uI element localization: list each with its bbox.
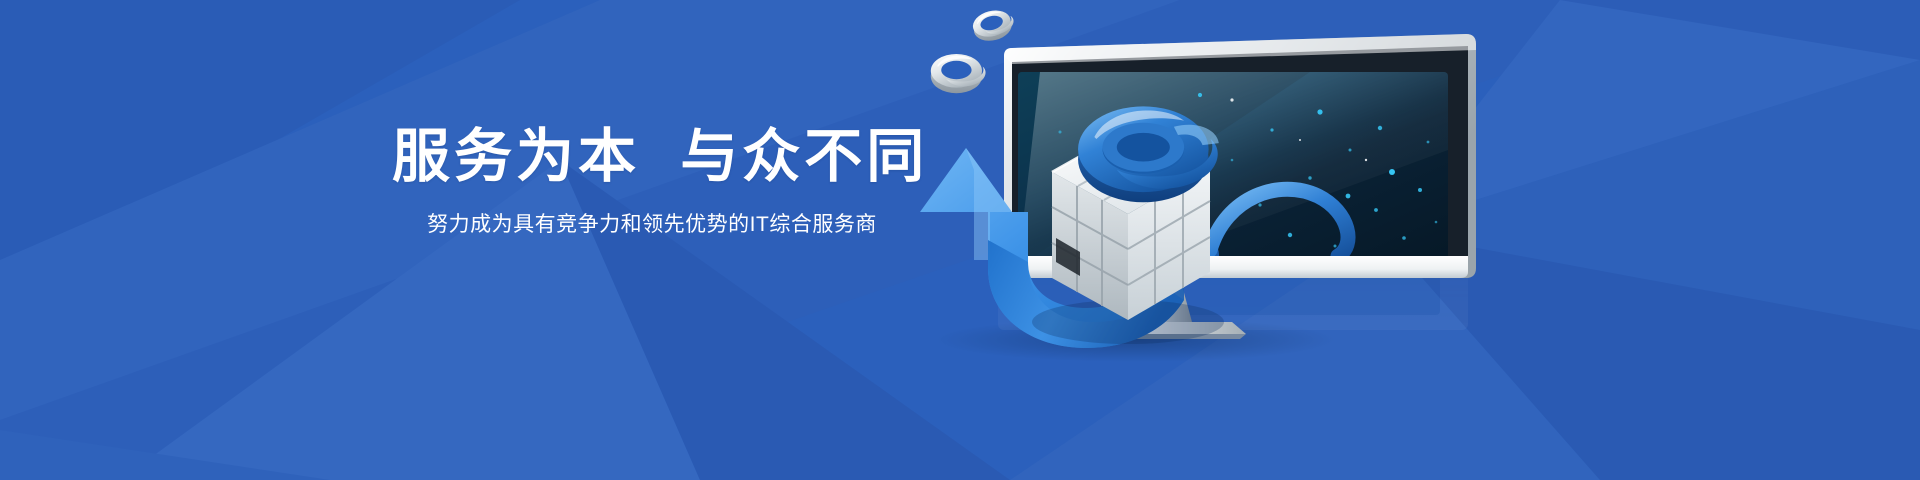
hero-illustration xyxy=(880,0,1920,480)
page-title: 服务为本 与众不同 xyxy=(392,126,912,189)
hero-banner: 服务为本 与众不同 努力成为具有竞争力和领先优势的IT综合服务商 xyxy=(0,0,1920,480)
floating-silver-e-logo xyxy=(931,54,986,93)
floating-silver-e-logo xyxy=(970,6,1017,44)
banner-text-block: 服务为本 与众不同 努力成为具有竞争力和领先优势的IT综合服务商 xyxy=(392,126,912,238)
page-subtitle: 努力成为具有竞争力和领先优势的IT综合服务商 xyxy=(392,211,912,238)
